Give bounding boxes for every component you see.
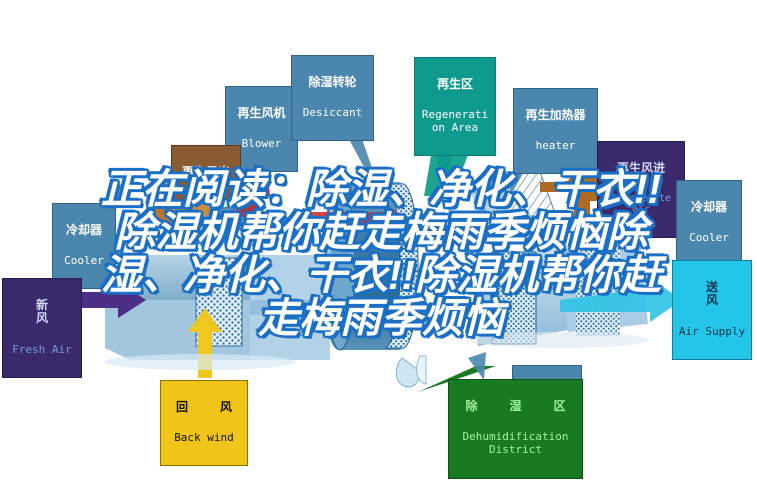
label-cooler-right-en: Cooler xyxy=(682,232,736,244)
label-dehumidification-district-en: Dehumidification District xyxy=(454,431,577,456)
label-regen-air-out-cn: 再生风出 xyxy=(177,166,235,179)
label-air-supply: 送 风 Air Supply xyxy=(672,260,752,360)
label-cooler-left-cn: 冷却器 xyxy=(58,224,110,237)
label-regeneration-area-cn: 再生区 xyxy=(420,78,490,91)
label-back-wind: 回 风 Back wind xyxy=(160,380,248,466)
label-regen-blower-cn: 再生风机 xyxy=(231,107,292,120)
label-regen-air-out: 再生风出 xyxy=(171,145,241,200)
label-regeneration-area-en: Regenerati on Area xyxy=(420,109,490,134)
label-cooler-right-cn: 冷却器 xyxy=(682,201,736,214)
label-dehumidification-district-cn: 除 湿 区 xyxy=(454,400,577,413)
label-regen-heater-cn: 再生加热器 xyxy=(519,109,592,122)
label-regeneration-area: 再生区 Regenerati on Area xyxy=(414,57,496,156)
label-regen-air-in: 再生风进 Regenerate air xyxy=(597,141,685,238)
screenshot-root: 再生风机 Blower 除湿转轮 Desiccant 再生区 Regenerat… xyxy=(0,0,757,488)
label-cooler-right: 冷却器 Cooler xyxy=(676,180,742,266)
label-regen-heater: 再生加热器 heater xyxy=(513,88,598,174)
label-fresh-air-en: Fresh Air xyxy=(8,344,76,356)
label-fresh-air: 新 风 Fresh Air xyxy=(2,278,82,378)
label-fresh-air-cn: 新 风 xyxy=(8,299,76,326)
label-desiccant-wheel: 除湿转轮 Desiccant xyxy=(291,55,374,141)
label-air-supply-en: Air Supply xyxy=(678,326,746,338)
label-cooler-left: 冷却器 Cooler xyxy=(52,203,116,289)
label-regen-air-in-en: Regenerate air xyxy=(603,193,679,215)
label-cooler-left-en: Cooler xyxy=(58,255,110,267)
label-regen-air-in-cn: 再生风进 xyxy=(603,162,679,175)
label-regen-heater-en: heater xyxy=(519,140,592,152)
label-back-wind-en: Back wind xyxy=(166,432,242,444)
label-dehumidification-district: 除 湿 区 Dehumidification District xyxy=(448,379,583,479)
label-air-supply-cn: 送 风 xyxy=(678,281,746,308)
label-desiccant-wheel-cn: 除湿转轮 xyxy=(297,76,368,89)
label-desiccant-wheel-en: Desiccant xyxy=(297,107,368,119)
label-back-wind-cn: 回 风 xyxy=(166,401,242,414)
